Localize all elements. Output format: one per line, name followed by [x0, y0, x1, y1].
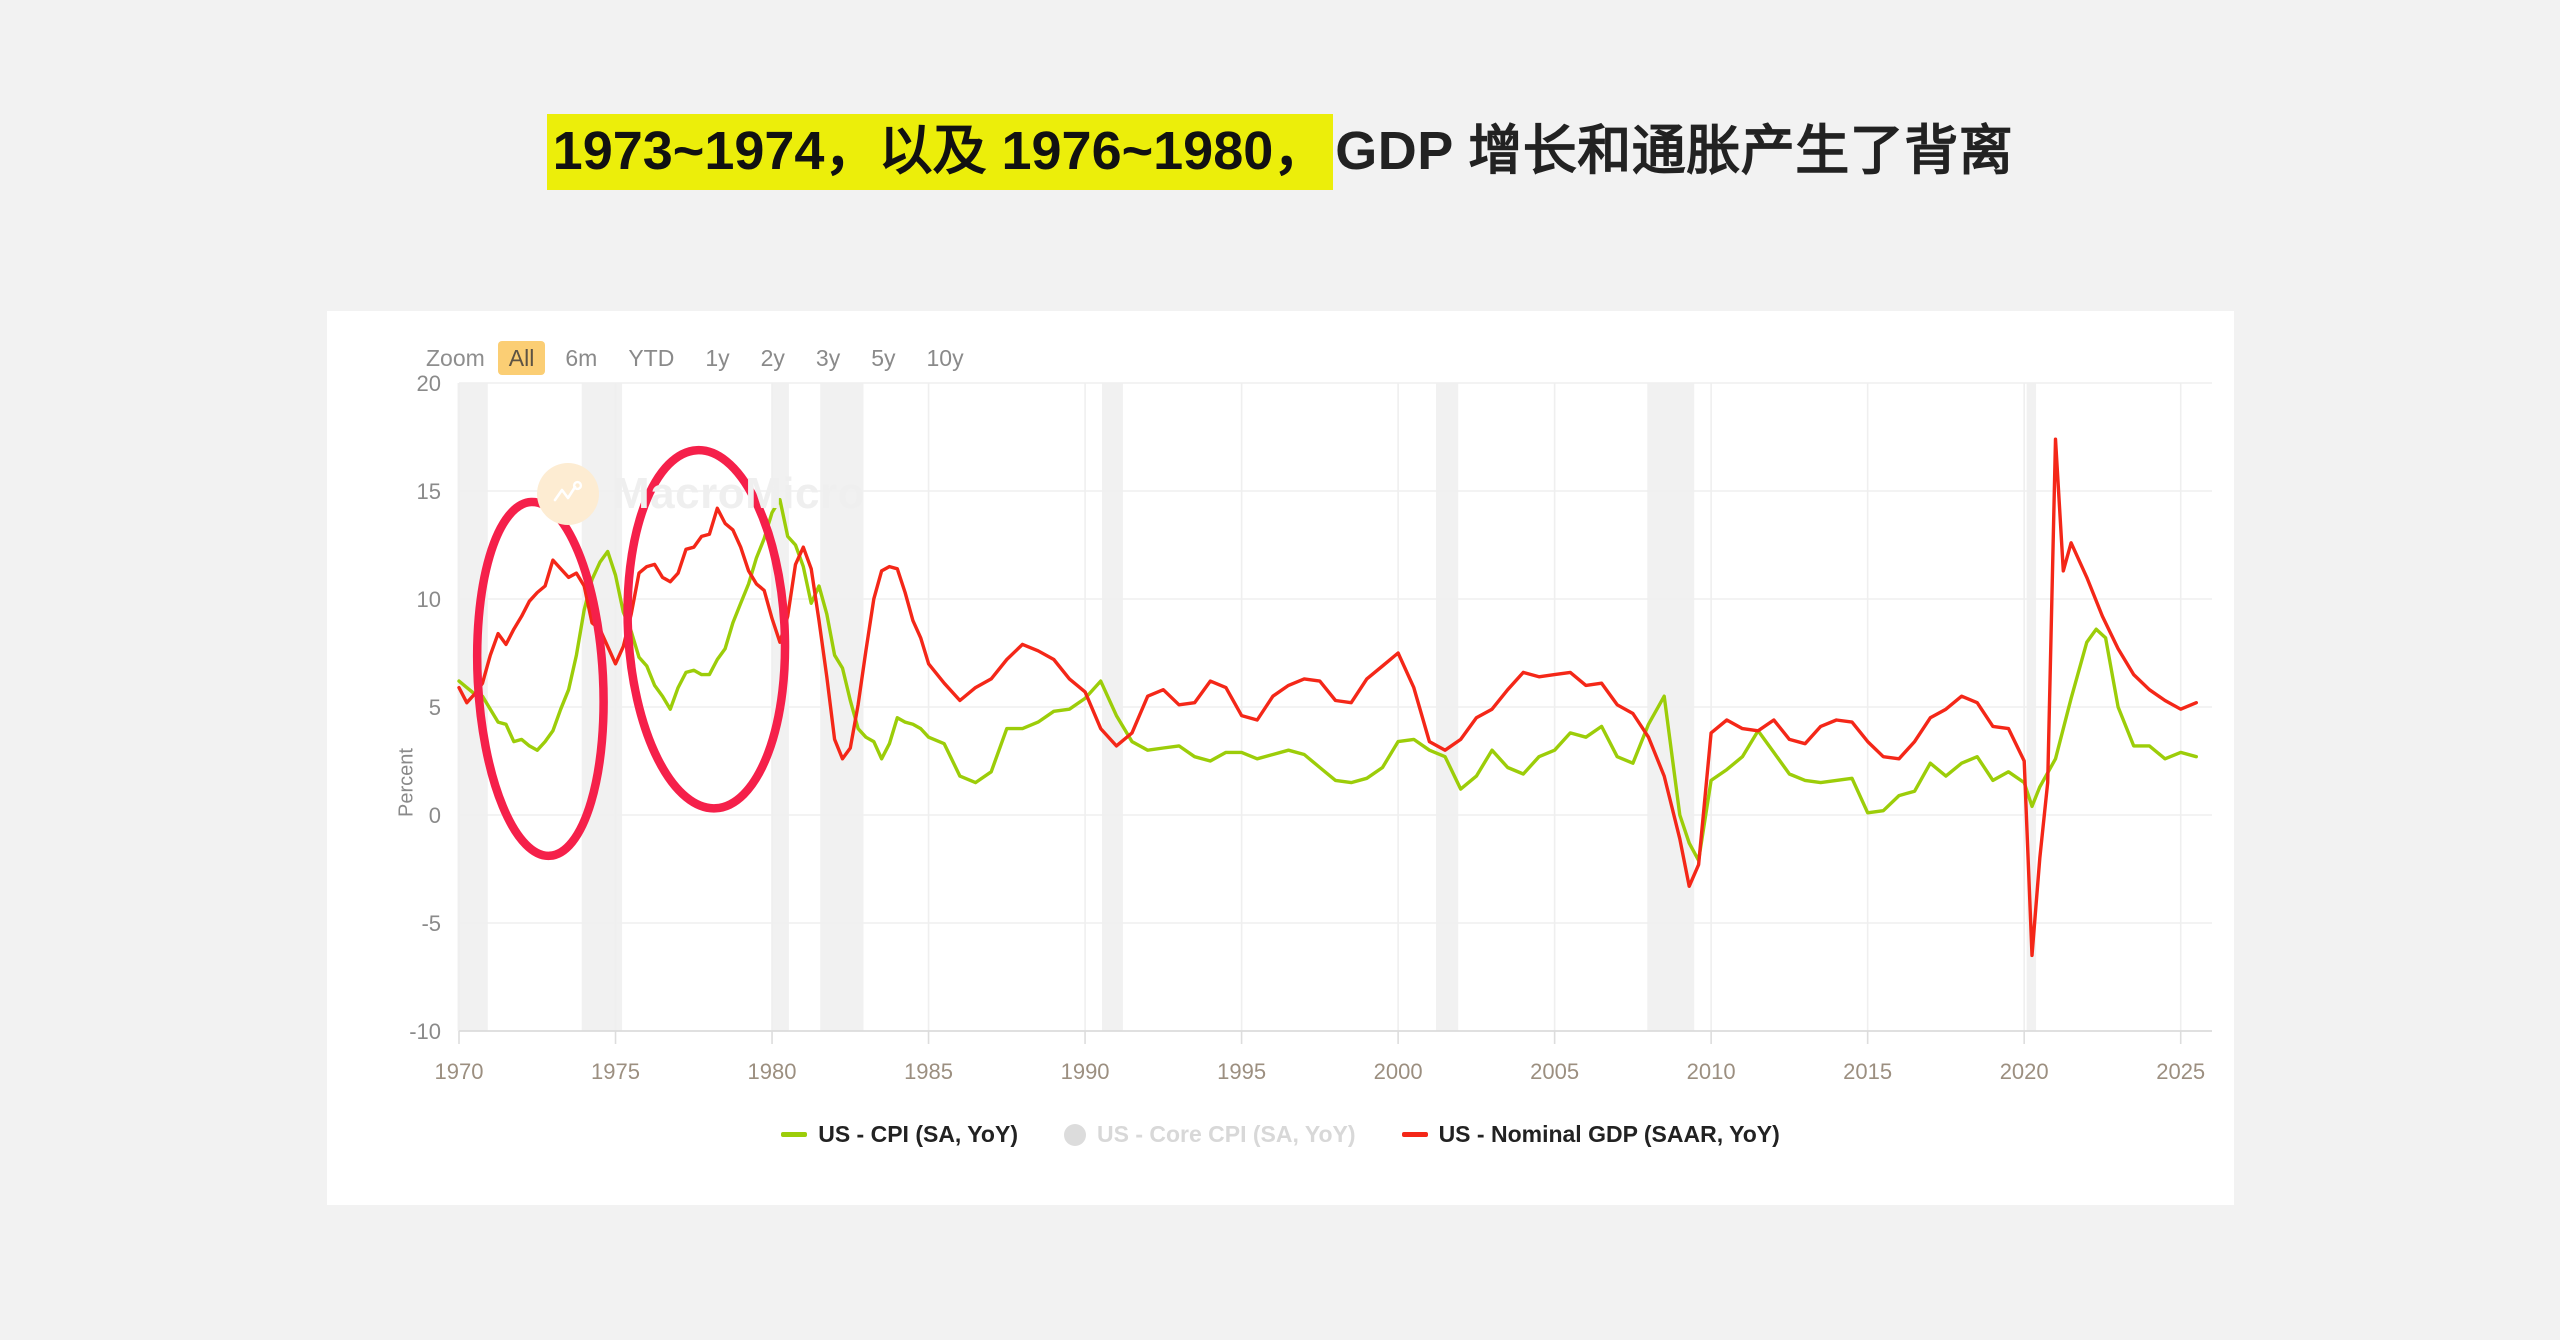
x-tick-label: 2025 — [2156, 1059, 2205, 1084]
x-tick-label: 1970 — [435, 1059, 484, 1084]
chart-card: Zoom All 6m YTD 1y 2y 3y 5y 10y 20151050… — [327, 311, 2234, 1205]
legend-label-nominal-gdp: US - Nominal GDP (SAAR, YoY) — [1439, 1121, 1780, 1148]
x-tick-label: 1985 — [904, 1059, 953, 1084]
legend-swatch-cpi — [781, 1132, 807, 1137]
legend-item-nominal-gdp[interactable]: US - Nominal GDP (SAAR, YoY) — [1402, 1121, 1780, 1148]
series-line — [459, 439, 2196, 955]
chart-legend: US - CPI (SA, YoY) US - Core CPI (SA, Yo… — [327, 1121, 2234, 1148]
x-tick-label: 1995 — [1217, 1059, 1266, 1084]
x-tick-label: 1975 — [591, 1059, 640, 1084]
x-tick-label: 2010 — [1687, 1059, 1736, 1084]
y-tick-label: 15 — [417, 479, 441, 504]
legend-item-core-cpi[interactable]: US - Core CPI (SA, YoY) — [1064, 1121, 1356, 1148]
legend-swatch-core-cpi — [1064, 1124, 1086, 1146]
y-tick-label: 5 — [429, 695, 441, 720]
x-tick-label: 1990 — [1061, 1059, 1110, 1084]
legend-swatch-nominal-gdp — [1402, 1132, 1428, 1137]
x-tick-label: 1980 — [748, 1059, 797, 1084]
y-tick-label: 0 — [429, 803, 441, 828]
headline-rest: GDP 增长和通胀产生了背离 — [1335, 121, 2013, 181]
x-tick-label: 2000 — [1374, 1059, 1423, 1084]
x-tick-label: 2015 — [1843, 1059, 1892, 1084]
y-tick-label: 20 — [417, 371, 441, 396]
x-tick-label: 2005 — [1530, 1059, 1579, 1084]
legend-label-core-cpi: US - Core CPI (SA, YoY) — [1097, 1121, 1356, 1148]
x-tick-label: 2020 — [2000, 1059, 2049, 1084]
page-title: 1973~1974，以及 1976~1980，GDP 增长和通胀产生了背离 — [0, 118, 2560, 186]
legend-label-cpi: US - CPI (SA, YoY) — [818, 1121, 1018, 1148]
y-tick-label: -5 — [421, 911, 441, 936]
chart-svg: 20151050-5-10197019751980198519901995200… — [327, 311, 2234, 1205]
plot-area[interactable]: 20151050-5-10197019751980198519901995200… — [327, 311, 2234, 1205]
y-tick-label: -10 — [409, 1019, 441, 1044]
annotation-ellipse — [619, 446, 794, 812]
headline-highlight: 1973~1974，以及 1976~1980， — [547, 114, 1334, 190]
y-tick-label: 10 — [417, 587, 441, 612]
y-axis-title: Percent — [396, 683, 419, 883]
legend-item-cpi[interactable]: US - CPI (SA, YoY) — [781, 1121, 1018, 1148]
